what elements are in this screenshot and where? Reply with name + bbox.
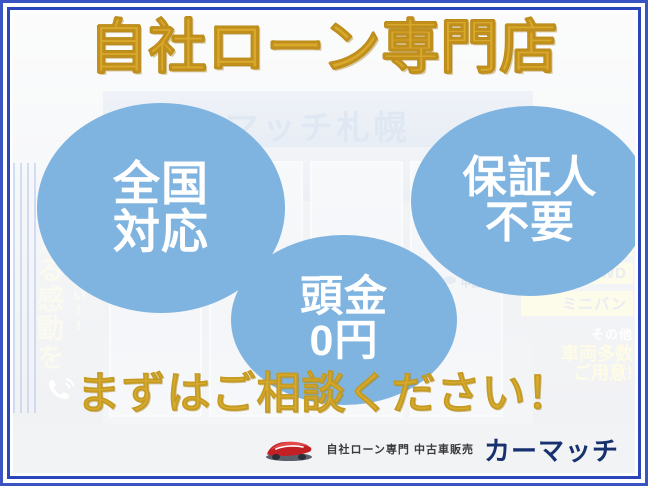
poster: マッチ札幌 カーマッチ 札幌白石店 中古車買取 軽自動車 4WD ミニ	[0, 0, 648, 486]
frame-thin-line	[11, 11, 637, 475]
